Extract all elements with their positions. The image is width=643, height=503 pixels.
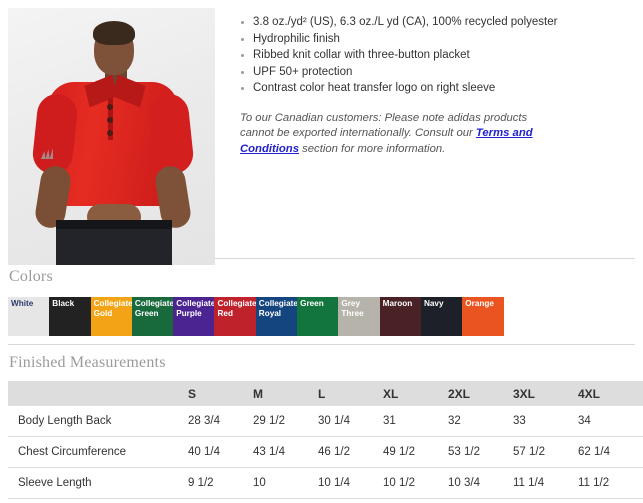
measurement-value: 28 3/4: [188, 406, 253, 437]
color-swatch-label: Collegiate Gold: [94, 299, 131, 319]
measurement-label: Chest Circumference: [8, 437, 188, 468]
color-swatch[interactable]: Navy: [421, 297, 462, 336]
measurement-value: 34: [578, 406, 643, 437]
color-swatch[interactable]: Collegiate Gold: [91, 297, 132, 336]
color-swatch-row: WhiteBlackCollegiate GoldCollegiate Gree…: [8, 297, 643, 336]
color-swatch[interactable]: Green: [297, 297, 338, 336]
measurement-value: 57 1/2: [513, 437, 578, 468]
color-swatch[interactable]: Collegiate Purple: [173, 297, 214, 336]
color-swatch-label: Grey Three: [341, 299, 378, 319]
table-row: Sleeve Length9 1/21010 1/410 1/210 3/411…: [8, 468, 643, 499]
table-header-cell-size: XL: [383, 381, 448, 406]
measurement-value: 40 1/4: [188, 437, 253, 468]
table-row: Chest Circumference40 1/443 1/446 1/249 …: [8, 437, 643, 468]
polo-button-2: [107, 117, 113, 123]
color-swatch[interactable]: Maroon: [380, 297, 421, 336]
polo-button-3: [107, 130, 113, 136]
table-header-cell-size: 4XL: [578, 381, 643, 406]
table-header-cell-size: 3XL: [513, 381, 578, 406]
measurements-section: Finished Measurements SMLXL2XL3XL4XL Bod…: [0, 345, 643, 503]
measurement-value: 32: [448, 406, 513, 437]
feature-list: 3.8 oz./yd² (US), 6.3 oz./L yd (CA), 100…: [240, 14, 643, 97]
color-swatch-label: Green: [300, 299, 337, 309]
colors-section: Colors WhiteBlackCollegiate GoldCollegia…: [0, 259, 643, 344]
measurement-value: 49 1/2: [383, 437, 448, 468]
table-header-row: SMLXL2XL3XL4XL: [8, 381, 643, 406]
measurement-value: 62 1/4: [578, 437, 643, 468]
color-swatch[interactable]: [504, 297, 545, 336]
color-swatch[interactable]: Collegiate Green: [132, 297, 173, 336]
measurement-value: 10 1/4: [318, 468, 383, 499]
measurement-value: 9 1/2: [188, 468, 253, 499]
color-swatch-label: Black: [52, 299, 89, 309]
color-swatch-label: Collegiate Green: [135, 299, 172, 319]
product-details: 3.8 oz./yd² (US), 6.3 oz./L yd (CA), 100…: [215, 8, 643, 168]
product-overview: 3.8 oz./yd² (US), 6.3 oz./L yd (CA), 100…: [0, 0, 643, 258]
measurement-label: Body Length Back: [8, 406, 188, 437]
list-item: Contrast color heat transfer logo on rig…: [240, 80, 643, 97]
table-row: Body Length Back28 3/429 1/230 1/4313233…: [8, 406, 643, 437]
table-body: Body Length Back28 3/429 1/230 1/4313233…: [8, 406, 643, 499]
color-swatch[interactable]: Collegiate Royal: [256, 297, 297, 336]
color-swatch[interactable]: Collegiate Red: [214, 297, 255, 336]
measurement-value: 11 1/2: [578, 468, 643, 499]
table-header-cell-size: S: [188, 381, 253, 406]
finished-measurements-table: SMLXL2XL3XL4XL Body Length Back28 3/429 …: [8, 381, 643, 499]
measurement-value: 11 1/4: [513, 468, 578, 499]
measurement-value: 43 1/4: [253, 437, 318, 468]
measurements-heading: Finished Measurements: [0, 345, 643, 372]
table-header-cell-size: 2XL: [448, 381, 513, 406]
measurement-value: 10 1/2: [383, 468, 448, 499]
measurement-value: 46 1/2: [318, 437, 383, 468]
measurement-value: 30 1/4: [318, 406, 383, 437]
note-text-after-link: section for more information.: [299, 143, 445, 155]
list-item: 3.8 oz./yd² (US), 6.3 oz./L yd (CA), 100…: [240, 14, 643, 31]
table-head: SMLXL2XL3XL4XL: [8, 381, 643, 406]
measurement-value: 10 3/4: [448, 468, 513, 499]
model-belt: [56, 220, 172, 229]
canadian-customers-note: To our Canadian customers: Please note a…: [240, 111, 560, 158]
color-swatch-label: White: [11, 299, 48, 309]
table-header-cell-size: L: [318, 381, 383, 406]
list-item: Ribbed knit collar with three-button pla…: [240, 47, 643, 64]
polo-button-1: [107, 104, 113, 110]
color-swatch-label: Navy: [424, 299, 461, 309]
color-swatch-label: Maroon: [383, 299, 420, 309]
measurement-value: 31: [383, 406, 448, 437]
table-header-cell-blank: [8, 381, 188, 406]
product-photo[interactable]: [8, 8, 215, 265]
color-swatch-label: Orange: [465, 299, 502, 309]
measurement-value: 53 1/2: [448, 437, 513, 468]
color-swatch-label: Collegiate Red: [217, 299, 254, 319]
model-hair: [93, 21, 135, 45]
measurement-value: 29 1/2: [253, 406, 318, 437]
measurement-label: Sleeve Length: [8, 468, 188, 499]
list-item: UPF 50+ protection: [240, 64, 643, 81]
table-header-cell-size: M: [253, 381, 318, 406]
color-swatch[interactable]: Black: [49, 297, 90, 336]
color-swatch[interactable]: White: [8, 297, 49, 336]
color-swatch-label: Collegiate Royal: [259, 299, 296, 319]
color-swatch[interactable]: Grey Three: [338, 297, 379, 336]
list-item: Hydrophilic finish: [240, 31, 643, 48]
measurement-value: 10: [253, 468, 318, 499]
color-swatch[interactable]: Orange: [462, 297, 503, 336]
color-swatch-label: Collegiate Purple: [176, 299, 213, 319]
measurement-value: 33: [513, 406, 578, 437]
